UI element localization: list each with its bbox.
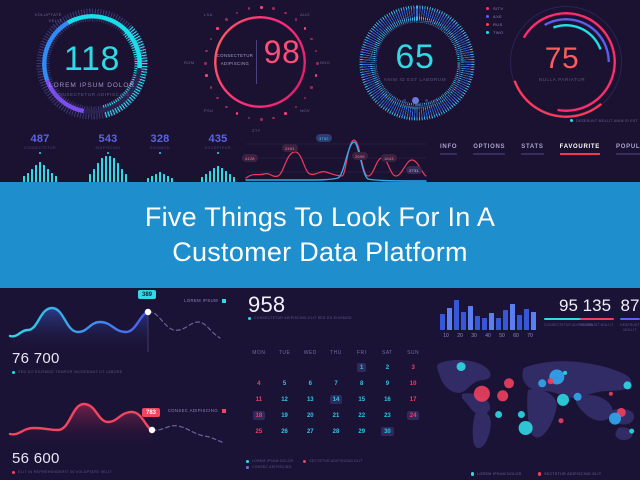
gauge-widget-3[interactable]: 65 ANIM ID EST LABORUM (340, 0, 490, 130)
banner-title-line-1: Five Things To Look For In A (145, 200, 495, 235)
area-chart-2-svg (0, 384, 232, 450)
calendar-day-17[interactable]: 17 (400, 395, 426, 404)
calendar-day-15[interactable]: 15 (349, 395, 375, 404)
calendar-day-9[interactable]: 9 (375, 379, 401, 388)
nav-item-options[interactable]: OPTIONS (473, 144, 505, 155)
right-metrics-panel: 10203040506070 95 CONSECTETUR ADIPISCING… (432, 288, 640, 480)
gauge-2-ring-dot (260, 118, 263, 121)
bullet-icon (12, 471, 15, 474)
map-bubble-13[interactable] (574, 393, 582, 401)
area-chart-2[interactable]: 783 CONSEC ADIPISCING 56 600 ELIT IN REP… (0, 384, 232, 476)
calendar-day-13[interactable]: 13 (297, 395, 323, 404)
bar-cluster-1[interactable]: 487CONSECTETUR (10, 119, 70, 182)
map-bubble-19[interactable] (629, 429, 634, 434)
mini-bar (503, 310, 508, 330)
gauge-2-ring-dot (272, 7, 275, 10)
calendar-day-3[interactable]: 3 (400, 363, 426, 372)
gauge-widget-2[interactable]: TWOAUGNNONOVZTYPSUROMLSA CONSECTETUR ADI… (178, 0, 338, 130)
calendar-weekday-thu: THU (323, 350, 349, 356)
bottom-dashboard-strip: 389 LOREM IPSUM 76 700 SED DO EIUSMOD TE… (0, 288, 640, 480)
map-bubble-18[interactable] (609, 413, 621, 425)
gauge-2-ring-dot (216, 27, 219, 30)
bullet-icon (248, 317, 251, 320)
area-chart-1-value: 76 700 (12, 350, 60, 367)
mini-bar-axis-tick-60: 60 (510, 333, 522, 339)
gauge-4-legend-item: TWO (486, 30, 504, 35)
bar-cluster-dot-icon (159, 152, 161, 154)
mini-bar (517, 315, 522, 330)
map-bubble-9[interactable] (538, 379, 546, 387)
mini-bar-chart[interactable]: 10203040506070 (440, 296, 536, 339)
map-bubble-3[interactable] (504, 378, 514, 388)
bar-cluster-3[interactable]: 328EIUSMOD (130, 103, 190, 182)
calendar-legend-item: SECTETUR ADIPISCING ELIT (303, 459, 362, 463)
bullet-icon (303, 460, 306, 463)
calendar-weekday-wed: WED (297, 350, 323, 356)
calendar-day-23[interactable]: 23 (375, 411, 401, 420)
calendar-blank-cell (297, 363, 323, 372)
calendar-weekday-fri: FRI (349, 350, 375, 356)
gauge-2-ring-dot (295, 106, 298, 109)
mini-bar-chart-axis: 10203040506070 (440, 333, 536, 339)
calendar-day-6[interactable]: 6 (297, 379, 323, 388)
area-chart-1-caption: SED DO EIUSMOD TEMPOR INCIDIDUNT UT LABO… (12, 370, 122, 374)
gauge-1-sublabel: CONSECTETUR ADIPISCING (8, 92, 176, 97)
world-map-legend: LOREM IPSUM DOLORSECTETUR ADIPISCING ELI… (432, 472, 640, 476)
bullet-icon (538, 472, 542, 476)
kpi-3-caption: DESERUNT MOLLIT (620, 323, 640, 333)
calendar-blank-cell (246, 363, 272, 372)
gauge-4-legend-label: SITV (493, 6, 504, 11)
calendar-day-25[interactable]: 25 (246, 427, 272, 436)
legend-swatch-icon (486, 31, 489, 34)
calendar-legend-item: CONSEC ADIPISCING (246, 464, 373, 470)
pager-dot-1[interactable] (394, 99, 397, 102)
gauge-2-ring-dot (260, 6, 263, 9)
calendar-day-7[interactable]: 7 (323, 379, 349, 388)
line-label-1: 2491 (282, 144, 298, 152)
mini-bar-axis-tick-50: 50 (496, 333, 508, 339)
calendar-value: 958 (248, 292, 285, 318)
map-bubble-12[interactable] (557, 394, 569, 406)
gauge-4-label: NULLA PARIATUR (484, 77, 640, 82)
gauge-4-legend-item: AXE (486, 14, 504, 19)
gauge-4-legend-label: RUS (493, 22, 503, 27)
calendar-day-14[interactable]: 14 (323, 395, 349, 404)
calendar-day-12[interactable]: 12 (272, 395, 298, 404)
map-bubble-4[interactable] (497, 390, 508, 401)
map-bubble-1[interactable] (457, 362, 466, 371)
calendar-legend-item: LOREM IPSUM DOLOR (246, 459, 293, 463)
area-chart-2-tooltip: 783 (142, 408, 160, 417)
bar-cluster-3-value: 328 (130, 133, 190, 145)
mini-bar-axis-tick-30: 30 (468, 333, 480, 339)
bullet-icon (570, 119, 573, 122)
nav-item-stats[interactable]: STATS (521, 144, 543, 155)
gauge-2-ring-dot (284, 12, 287, 15)
nav-item-popular[interactable]: POPULAR (616, 144, 640, 155)
mini-bar (454, 300, 459, 330)
legend-swatch-icon (222, 299, 226, 303)
bar-cluster-dot-icon (107, 152, 109, 154)
gauge-2-ring-dot (295, 18, 298, 21)
bullet-icon (12, 371, 15, 374)
kpi-3-underline (620, 318, 640, 320)
world-map-landmasses (437, 360, 634, 448)
legend-swatch-icon (486, 23, 489, 26)
bar-cluster-2-value: 543 (78, 133, 138, 145)
gauge-2-ring-dot (236, 12, 239, 15)
calendar-day-26[interactable]: 26 (272, 427, 298, 436)
mini-bar-axis-tick-40: 40 (482, 333, 494, 339)
bar-cluster-3-bars (130, 156, 190, 182)
bar-cluster-2-bars (78, 156, 138, 182)
mini-bar-axis-tick-70: 70 (524, 333, 536, 339)
line-label-4: 1843 (381, 154, 397, 162)
map-bubble-10[interactable] (548, 378, 554, 384)
map-bubble-5[interactable] (495, 411, 502, 418)
map-bubble-2[interactable] (474, 386, 490, 402)
calendar-day-27[interactable]: 27 (297, 427, 323, 436)
calendar-day-4[interactable]: 4 (246, 379, 272, 388)
bar-cluster-1-value: 487 (10, 133, 70, 145)
map-bubble-14[interactable] (559, 418, 564, 423)
mini-bar (475, 316, 480, 330)
bar-cluster-dot-icon (217, 152, 219, 154)
kpi-2-caption: DESERUNT MOLLIT (580, 323, 614, 328)
legend-swatch-icon (486, 7, 489, 10)
gauge-4-legend-item: RUS (486, 22, 504, 27)
map-bubble-6[interactable] (518, 411, 525, 418)
mini-bar-chart-bars (440, 296, 536, 330)
gauge-2-ring-dot (284, 112, 287, 115)
map-bubble-11[interactable] (563, 371, 567, 375)
map-bubble-16[interactable] (624, 381, 632, 389)
top-dashboard-strip: VOLUPTATE VELIT 118 LOREM IPSUM DOLOR CO… (0, 0, 640, 182)
kpi-card-2[interactable]: 135 DESERUNT MOLLIT (580, 296, 614, 328)
line-chart-svg (238, 132, 434, 182)
world-map-svg (432, 350, 640, 454)
calendar-day-5[interactable]: 5 (272, 379, 298, 388)
line-label-3: 2695 (352, 152, 368, 160)
calendar-grid[interactable]: MONTUEWEDTHUFRISATSUN1234567891011121314… (246, 350, 426, 436)
bullet-icon (471, 472, 475, 476)
gauge-2-value: 98 (226, 36, 338, 68)
mini-bar (510, 304, 515, 330)
top-navigation-bar[interactable]: INFOOPTIONSSTATSFAVOURITEPOPULAR (440, 144, 640, 155)
calendar-day-30[interactable]: 30 (375, 427, 401, 436)
bar-cluster-dot-icon (39, 152, 41, 154)
gauge-4-legend: SITVAXERUSTWO (486, 6, 504, 38)
bar-cluster-1-bars (10, 156, 70, 182)
mini-bar (461, 312, 466, 330)
line-label-5: 2731 (406, 166, 422, 174)
area-charts-panel: 389 LOREM IPSUM 76 700 SED DO EIUSMOD TE… (0, 288, 232, 480)
calendar-day-19[interactable]: 19 (272, 411, 298, 420)
bar-cluster-1-caption: CONSECTETUR (10, 146, 70, 150)
gauge-2-ring-dot (304, 97, 307, 100)
gauge-1-corner-tag: VOLUPTATE VELIT (32, 12, 62, 24)
pager-dot-4[interactable] (425, 99, 428, 102)
calendar-legend: LOREM IPSUM DOLORSECTETUR ADIPISCING ELI… (246, 458, 373, 471)
calendar-day-29[interactable]: 29 (349, 427, 375, 436)
map-bubble-15[interactable] (609, 392, 613, 396)
gauge-4-value: 75 (484, 44, 640, 74)
gauge-2-ring-dot (225, 106, 228, 109)
calendar-blank-cell (272, 363, 298, 372)
calendar-day-21[interactable]: 21 (323, 411, 349, 420)
calendar-day-20[interactable]: 20 (297, 411, 323, 420)
calendar-weekday-tue: TUE (272, 350, 298, 356)
bar-cluster-row: 487CONSECTETUR543ADIPISCING328EIUSMOD435… (0, 128, 225, 182)
area-chart-1-tooltip: 389 (138, 290, 156, 299)
mini-bar (524, 309, 529, 330)
gauge-4-legend-label: TWO (493, 30, 504, 35)
mini-bar (489, 313, 494, 330)
mini-bar-axis-tick-20: 20 (454, 333, 466, 339)
map-legend-item: SECTETUR ADIPISCING ELIT (538, 472, 602, 476)
bar-cluster-2-caption: ADIPISCING (78, 146, 138, 150)
bar-cluster-3-caption: EIUSMOD (130, 146, 190, 150)
gauge-2-ring-dot (236, 112, 239, 115)
pager-dot-2[interactable] (403, 99, 406, 102)
calendar-day-24[interactable]: 24 (400, 411, 426, 420)
calendar-day-8[interactable]: 8 (349, 379, 375, 388)
map-legend-item: LOREM IPSUM DOLOR (471, 472, 522, 476)
map-bubble-7[interactable] (519, 421, 533, 435)
calendar-blank-cell (323, 363, 349, 372)
calendar-day-22[interactable]: 22 (349, 411, 375, 420)
gauge-2-ring-dot (304, 27, 307, 30)
mini-bar (531, 312, 536, 330)
gauge-2-cardinal-nov: NOV (300, 108, 310, 113)
area-chart-1[interactable]: 389 LOREM IPSUM 76 700 SED DO EIUSMOD TE… (0, 288, 232, 380)
calendar-day-28[interactable]: 28 (323, 427, 349, 436)
gauge-2-ring-dot (210, 86, 213, 89)
legend-swatch-icon (222, 409, 226, 413)
bullet-icon (246, 460, 249, 463)
line-label-2: 3752 (316, 134, 332, 142)
gauge-2-ring-dot (315, 74, 318, 77)
mini-bar (447, 308, 452, 330)
gauge-2-cardinal-lsa: LSA (204, 12, 213, 17)
mini-bar (496, 318, 501, 330)
mini-bar (440, 314, 445, 330)
gauge-2-cardinal-psu: PSU (204, 108, 213, 113)
pager-dot-3[interactable] (412, 97, 419, 104)
calendar-weekday-mon: MON (246, 350, 272, 356)
mini-bar (482, 318, 487, 330)
calendar-widget[interactable]: 958 CONSECTETUR ADIPISCING ELIT SED DO E… (240, 288, 430, 480)
gauge-widget-4[interactable]: SITVAXERUSTWO 75 NULLA PARIATUR DESERUNT… (484, 0, 640, 130)
nav-item-favourite[interactable]: FAVOURITE (560, 144, 600, 155)
world-map-widget[interactable] (432, 350, 640, 454)
gauge-4-legend-label: AXE (493, 14, 502, 19)
gauge-2-ring-dot (272, 117, 275, 120)
calendar-weekday-sat: SAT (375, 350, 401, 356)
gauge-2-ring-dot (216, 97, 219, 100)
gauge-2-ring-dot (248, 7, 251, 10)
gauge-2-cardinal-aug: AUG (300, 12, 310, 17)
gauge-2-cardinal-rom: ROM (184, 60, 195, 65)
gauge-3-value: 65 (340, 40, 490, 74)
mini-bar (468, 306, 473, 330)
line-label-0: 4128 (242, 154, 258, 162)
kpi-2-underline (580, 318, 614, 320)
calendar-day-16[interactable]: 16 (375, 395, 401, 404)
gauge-4-legend-item: SITV (486, 6, 504, 11)
calendar-day-11[interactable]: 11 (246, 395, 272, 404)
bullet-icon (246, 466, 249, 469)
nav-item-info[interactable]: INFO (440, 144, 457, 155)
calendar-caption: CONSECTETUR ADIPISCING ELIT SED DO EIUSM… (248, 316, 352, 322)
gauge-4-corner-note: DESERUNT MOLLIT ANIM ID EST (570, 119, 638, 124)
mini-bar-axis-tick-10: 10 (440, 333, 452, 339)
calendar-day-2[interactable]: 2 (375, 363, 401, 372)
dashboard-screenshot: VOLUPTATE VELIT 118 LOREM IPSUM DOLOR CO… (0, 0, 640, 480)
calendar-weekday-sun: SUN (400, 350, 426, 356)
kpi-card-3[interactable]: 87 DESERUNT MOLLIT (620, 296, 640, 333)
calendar-day-10[interactable]: 10 (400, 379, 426, 388)
gauge-2-ring-dot (205, 74, 208, 77)
calendar-day-18[interactable]: 18 (246, 411, 272, 420)
area-chart-2-value: 56 600 (12, 450, 60, 467)
pager-dot-5[interactable] (434, 99, 437, 102)
line-chart-widget[interactable]: 4128 2491 3752 2695 1843 2731 (238, 132, 434, 182)
banner-title-line-2: Customer Data Platform (172, 235, 468, 270)
bar-cluster-2[interactable]: 543ADIPISCING (78, 133, 138, 182)
calendar-day-1[interactable]: 1 (349, 363, 375, 372)
gauge-3-pager-dots[interactable] (340, 92, 490, 110)
area-chart-1-legend: LOREM IPSUM (184, 298, 226, 303)
gauge-3-label: ANIM ID EST LABORUM (340, 77, 490, 82)
gauge-2-ring-dot (225, 18, 228, 21)
gauge-2-ring-dot (310, 86, 313, 89)
legend-swatch-icon (486, 15, 489, 18)
area-chart-2-caption: ELIT IN REPREHENDERIT IN VOLUPTATE VELIT (12, 470, 112, 474)
gauge-1-label: LOREM IPSUM DOLOR (8, 82, 176, 89)
kpi-3-value: 87 (620, 296, 640, 316)
title-banner: Five Things To Look For In A Customer Da… (0, 182, 640, 288)
gauge-1-value: 118 (8, 42, 176, 76)
area-chart-2-legend: CONSEC ADIPISCING (168, 408, 226, 413)
kpi-2-value: 135 (580, 296, 614, 316)
